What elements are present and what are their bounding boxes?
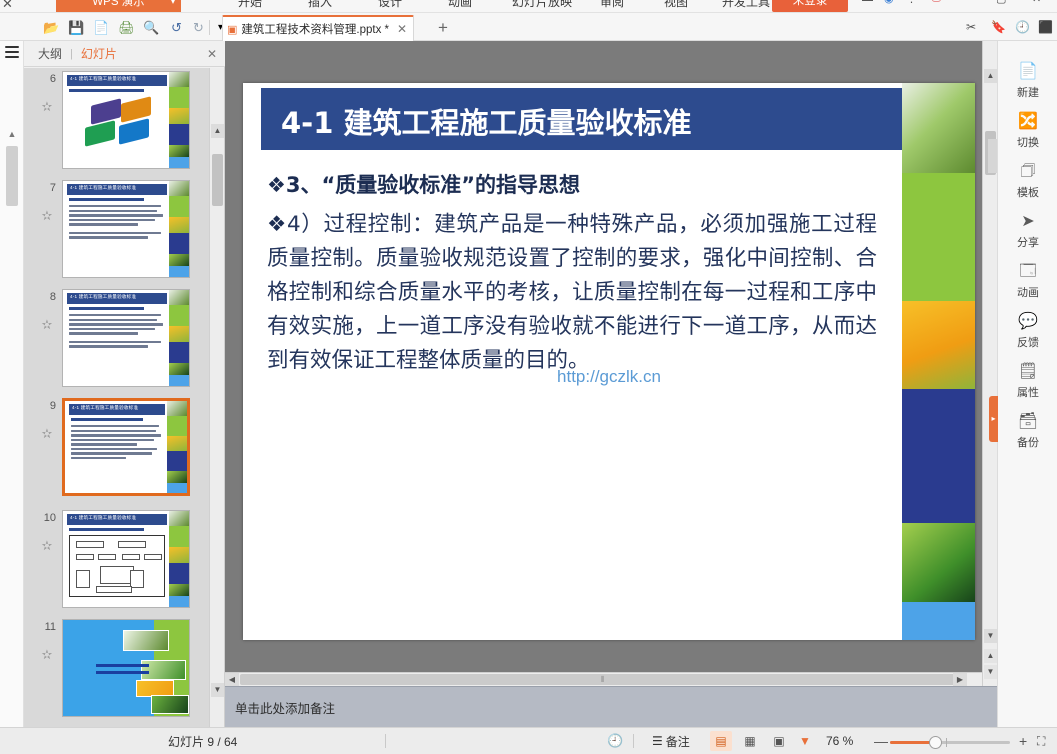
thumbnail-title-banner: 4-1 建筑工程施工质量验收标准: [69, 404, 165, 415]
minimize-icon[interactable]: —: [968, 0, 979, 4]
sidebar-item-label: 反馈: [998, 334, 1057, 350]
strip-block-1: [902, 173, 975, 301]
share-icon: ➤: [998, 211, 1057, 233]
thumbnail-title-text: 4-1 建筑工程施工质量验收标准: [70, 76, 136, 82]
scroll-down-button[interactable]: ▼: [211, 683, 224, 697]
properties-icon: 🗒: [998, 361, 1057, 383]
sidebar-item-label: 模板: [998, 184, 1057, 200]
quick-access-and-tabs-row: 📂 💾 📄 🖨 🔍 ↺ ↻ ▾ ▣ 建筑工程技术资料管理.pptx * ✕ + …: [0, 13, 1057, 41]
zoom-out-button[interactable]: —: [874, 733, 888, 749]
app-tab-wps-presentation[interactable]: WPS 演示 ▾: [56, 0, 181, 13]
thumbnail-frame[interactable]: 4-1 建筑工程施工质量验收标准: [62, 71, 190, 169]
zoom-slider[interactable]: [890, 741, 1010, 744]
thumbnail-frame[interactable]: 4-1 建筑工程施工质量验收标准: [62, 289, 190, 387]
sidebar-item-label: 新建: [998, 84, 1057, 100]
screenshot-icon[interactable]: ⎙: [932, 0, 941, 5]
bullet-icon: ❖: [267, 212, 287, 237]
thumbnail-animation-star-icon[interactable]: ✫: [38, 647, 56, 663]
sidebar-scroll-indicator: [988, 139, 997, 173]
help-icon[interactable]: ◉: [884, 0, 894, 5]
close-panel-icon[interactable]: ✕: [207, 47, 217, 61]
notes-pane[interactable]: 单击此处添加备注: [225, 686, 997, 727]
slide-heading: ❖3、“质量验收标准”的指导思想: [267, 169, 580, 199]
thumbnail-strip: [169, 511, 189, 607]
thumbnail-number: 7: [38, 182, 56, 194]
notes-placeholder: 单击此处添加备注: [235, 698, 335, 717]
slide-title: 4-1 建筑工程施工质量验收标准: [281, 100, 692, 142]
close-icon[interactable]: ✕: [397, 22, 407, 36]
strip-block-4: [902, 523, 975, 602]
open-folder-icon[interactable]: 📂: [43, 19, 60, 36]
notes-icon: ☰: [652, 734, 663, 748]
thumbnail-number: 11: [38, 621, 56, 633]
sidebar-item-label: 分享: [998, 234, 1057, 250]
menu-item-view[interactable]: 视图: [664, 0, 688, 13]
slide-canvas[interactable]: 4-1 建筑工程施工质量验收标准 ❖3、“质量验收标准”的指导思想 ❖4）过程控…: [243, 83, 975, 640]
restore-down-icon[interactable]: ▬: [862, 0, 873, 4]
slide-title-banner[interactable]: 4-1 建筑工程施工质量验收标准: [261, 88, 921, 150]
menu-hamburger-icon[interactable]: [5, 43, 19, 61]
thumbnail-list[interactable]: 6✫4-1 建筑工程施工质量验收标准7✫4-1 建筑工程施工质量验收标准8✫4-…: [24, 68, 210, 727]
sidebar-item-label: 属性: [998, 384, 1057, 400]
scroll-right-button[interactable]: ▶: [953, 673, 967, 686]
scroll-left-button[interactable]: ◀: [225, 673, 239, 686]
sidebar-item-animation[interactable]: 🗔动画: [998, 257, 1057, 307]
thumbnail-title-text: 4-1 建筑工程施工质量验收标准: [70, 294, 136, 300]
feedback-icon: 💬: [998, 311, 1057, 333]
bookmark-icon[interactable]: 🔖: [991, 20, 1006, 34]
save-icon[interactable]: 💾: [68, 19, 85, 36]
window-close-left-icon[interactable]: ✕: [2, 0, 13, 12]
thumbnail-title-text: 4-1 建筑工程施工质量验收标准: [70, 185, 136, 191]
sidebar-item-label: 动画: [998, 284, 1057, 300]
view-slide-sorter-button[interactable]: ▦: [739, 731, 761, 751]
close-icon[interactable]: ✕: [1032, 0, 1041, 5]
status-divider: [385, 734, 386, 748]
watermark-text: http://gczlk.cn: [243, 367, 975, 387]
thumbnail-frame-selected[interactable]: 4-1 建筑工程施工质量验收标准: [62, 398, 190, 496]
view-normal-button[interactable]: ▤: [710, 731, 732, 751]
thumbnail-animation-star-icon[interactable]: ✫: [38, 99, 56, 115]
tab-divider: |: [70, 48, 73, 60]
scroll-up-button[interactable]: ▲: [211, 124, 224, 138]
undo-icon[interactable]: ↺: [168, 19, 185, 36]
thumbnail-animation-star-icon[interactable]: ✫: [38, 426, 56, 442]
menu-item-insert[interactable]: 插入: [308, 0, 332, 13]
strip-block-0: [902, 83, 975, 173]
previous-slide-button[interactable]: ▲: [984, 649, 997, 663]
chevron-down-icon[interactable]: ▾: [171, 0, 175, 13]
sidebar-item-new-document[interactable]: 📄新建: [998, 57, 1057, 107]
thumbnail-panel-tabs: 大纲 | 幻灯片 ✕: [24, 41, 225, 67]
thumbnail-number: 8: [38, 291, 56, 303]
status-divider-2: [633, 734, 634, 748]
thumbnail-title-banner: 4-1 建筑工程施工质量验收标准: [67, 184, 167, 195]
sidebar-item-properties[interactable]: 🗒属性: [998, 357, 1057, 407]
rail-scroll-up-button[interactable]: ▲: [4, 129, 20, 141]
thumbnail-strip: [167, 401, 187, 493]
thumbnail-animation-star-icon[interactable]: ✫: [38, 317, 56, 333]
status-bar: 幻灯片 9 / 64 🕘 ☰ 备注 ▤ ▦ ▣ ▼ 76 % — + ⛶: [0, 727, 1057, 754]
cut-icon[interactable]: ✂: [966, 20, 976, 34]
thumbnail-title-banner: 4-1 建筑工程施工质量验收标准: [67, 75, 167, 86]
thumbnail-title-banner: 4-1 建筑工程施工质量验收标准: [67, 514, 167, 525]
thumbnail-title-text: 4-1 建筑工程施工质量验收标准: [72, 405, 138, 411]
history-icon[interactable]: 🕘: [1015, 20, 1030, 34]
scrollbar-thumb[interactable]: [212, 154, 223, 206]
slide-body-text[interactable]: ❖4）过程控制：建筑产品是一种特殊产品，必须加强施工过程质量控制。质量验收规范设…: [267, 208, 877, 378]
next-slide-button[interactable]: ▼: [984, 665, 997, 679]
scroll-down-button[interactable]: ▼: [984, 629, 997, 643]
thumbnail-number: 6: [38, 73, 56, 85]
slide-edit-area: 4-1 建筑工程施工质量验收标准 ❖3、“质量验收标准”的指导思想 ❖4）过程控…: [225, 41, 997, 727]
pptx-file-icon: ▣: [227, 23, 237, 36]
zoom-in-button[interactable]: +: [1019, 733, 1027, 749]
menu-bar: ✕ WPS 演示 ▾ 开始 插入 设计 动画 幻灯片放映 审阅 视图 开发工具 …: [0, 0, 1057, 13]
thumbnail-body: [69, 198, 165, 241]
thumbnail-body: [69, 528, 165, 597]
slide-body-paragraph: 4）过程控制：建筑产品是一种特殊产品，必须加强施工过程质量控制。质量验收规范设置…: [267, 212, 877, 373]
left-rail: ▲: [0, 41, 24, 754]
notes-toggle-button[interactable]: ☰ 备注: [652, 733, 690, 750]
thumbnail-number: 9: [38, 400, 56, 412]
new-document-icon: 📄: [998, 61, 1057, 83]
tab-slides[interactable]: 幻灯片: [81, 45, 117, 62]
sidebar-item-share[interactable]: ➤分享: [998, 207, 1057, 257]
animation-icon: 🗔: [998, 261, 1057, 283]
strip-block-5: [902, 602, 975, 640]
thumbnail-body: [69, 307, 165, 350]
thumbnail-strip: [169, 72, 189, 168]
slide-decorative-image-strip: [902, 83, 975, 640]
scrollbar-grip-icon: ⦀: [601, 675, 605, 685]
sidebar-item-transition[interactable]: 🔀切换: [998, 107, 1057, 157]
notes-toggle-label: 备注: [666, 733, 690, 750]
thumbnail-number: 10: [38, 512, 56, 524]
menu-item-review[interactable]: 审阅: [600, 0, 624, 13]
menu-item-start[interactable]: 开始: [238, 0, 262, 13]
sidebar-item-template[interactable]: 🗇模板: [998, 157, 1057, 207]
right-tool-sidebar: ▸ 📄新建🔀切换🗇模板➤分享🗔动画💬反馈🗒属性🗃备份: [997, 41, 1057, 727]
thumbnail-frame[interactable]: 4-1 建筑工程施工质量验收标准: [62, 510, 190, 608]
strip-block-3: [902, 389, 975, 523]
view-reading-button[interactable]: ▣: [768, 731, 790, 751]
tab-outline[interactable]: 大纲: [38, 45, 62, 62]
sidebar-item-backup[interactable]: 🗃备份: [998, 407, 1057, 457]
zoom-slider-midpoint: [946, 738, 947, 747]
print-preview-icon[interactable]: 🔍: [143, 19, 160, 36]
menu-item-animation[interactable]: 动画: [448, 0, 472, 13]
print-icon[interactable]: 🖨: [118, 19, 135, 36]
thumbnail-strip: [169, 181, 189, 277]
document-tab[interactable]: ▣ 建筑工程技术资料管理.pptx * ✕: [222, 15, 414, 41]
thumbnail-animation-star-icon[interactable]: ✫: [38, 538, 56, 554]
thumbnail-animation-star-icon[interactable]: ✫: [38, 208, 56, 224]
thumbnail-body: [71, 418, 163, 462]
new-tab-button[interactable]: +: [438, 19, 448, 36]
slide-thumbnail-panel: 大纲 | 幻灯片 ✕ 6✫4-1 建筑工程施工质量验收标准7✫4-1 建筑工程施…: [24, 41, 225, 727]
sidebar-item-label: 备份: [998, 434, 1057, 450]
canvas-vertical-scrollbar[interactable]: ▲ ▼ ▲ ▼: [982, 41, 997, 686]
history-icon[interactable]: 🕘: [607, 733, 623, 749]
scrollbar-thumb[interactable]: ⦀: [240, 674, 962, 685]
sidebar-item-feedback[interactable]: 💬反馈: [998, 307, 1057, 357]
toolbar-divider: [209, 20, 210, 35]
fit-to-window-button[interactable]: ⛶: [1037, 734, 1045, 749]
rail-scrollbar-thumb[interactable]: [6, 146, 18, 206]
document-tab-label: 建筑工程技术资料管理.pptx *: [241, 21, 389, 37]
thumbnail-frame[interactable]: [62, 619, 190, 717]
thumbnail-title-text: 4-1 建筑工程施工质量验收标准: [70, 515, 136, 521]
slide-counter: 幻灯片 9 / 64: [168, 733, 237, 750]
thumbnail-scrollbar[interactable]: ▲ ▼: [209, 68, 224, 727]
more-options-icon[interactable]: ⋮: [906, 0, 917, 5]
scroll-up-button[interactable]: ▲: [984, 69, 997, 83]
canvas-horizontal-scrollbar[interactable]: ◀ ⦀ ▶: [225, 672, 982, 686]
thumbnail-title-banner: 4-1 建筑工程施工质量验收标准: [67, 293, 167, 304]
wps-presentation-window: ✕ WPS 演示 ▾ 开始 插入 设计 动画 幻灯片放映 审阅 视图 开发工具 …: [0, 0, 1057, 754]
zoom-level-label: 76 %: [826, 734, 853, 748]
view-slideshow-button[interactable]: ▼: [794, 731, 816, 751]
transition-icon: 🔀: [998, 111, 1057, 133]
thumbnail-frame[interactable]: 4-1 建筑工程施工质量验收标准: [62, 180, 190, 278]
redo-icon[interactable]: ↻: [190, 19, 207, 36]
thumbnail-body: [69, 89, 165, 154]
menu-item-slideshow[interactable]: 幻灯片放映: [512, 0, 572, 13]
more-tabs-icon[interactable]: ⬛: [1038, 20, 1053, 34]
export-pdf-icon[interactable]: 📄: [93, 19, 110, 36]
thumbnail-strip: [169, 290, 189, 386]
zoom-slider-knob[interactable]: [929, 736, 942, 749]
login-button[interactable]: 未登录: [772, 0, 848, 12]
maximize-icon[interactable]: ▢: [996, 0, 1006, 5]
sidebar-item-label: 切换: [998, 134, 1057, 150]
sidebar-collapse-handle[interactable]: ▸: [989, 396, 998, 442]
backup-icon: 🗃: [998, 411, 1057, 433]
menu-item-design[interactable]: 设计: [378, 0, 402, 13]
menu-item-dev-tools[interactable]: 开发工具: [722, 0, 770, 13]
template-icon: 🗇: [998, 161, 1057, 183]
app-tab-label: WPS 演示: [92, 0, 144, 8]
